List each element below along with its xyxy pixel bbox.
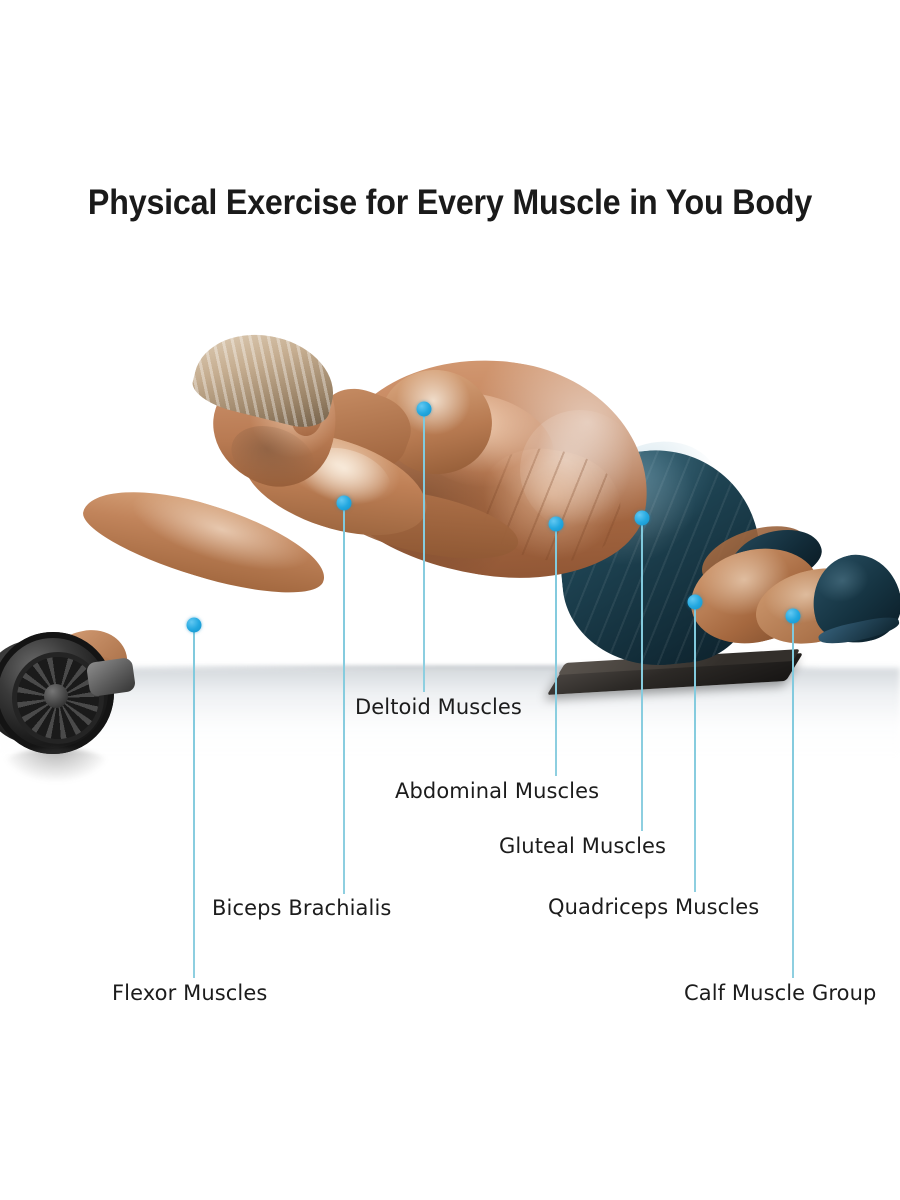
leader-line-quadriceps	[694, 609, 696, 892]
marker-dot-quadriceps[interactable]	[688, 595, 703, 610]
muscle-diagram-poster: Physical Exercise for Every Muscle in Yo…	[0, 0, 900, 1200]
leader-line-flexor	[193, 632, 195, 978]
marker-dot-flexor[interactable]	[187, 618, 202, 633]
ab-wheel-hub	[44, 684, 68, 708]
ab-wheel-grip-handle	[86, 657, 136, 697]
label-abdominal: Abdominal Muscles	[395, 779, 599, 803]
page-title: Physical Exercise for Every Muscle in Yo…	[36, 183, 864, 223]
marker-dot-calf[interactable]	[786, 609, 801, 624]
hair	[188, 320, 344, 433]
marker-dot-biceps[interactable]	[337, 496, 352, 511]
leader-line-abdominal	[555, 531, 557, 776]
marker-dot-deltoid[interactable]	[417, 402, 432, 417]
label-biceps: Biceps Brachialis	[212, 896, 391, 920]
label-gluteal: Gluteal Muscles	[499, 834, 666, 858]
label-quadriceps: Quadriceps Muscles	[548, 895, 759, 919]
marker-dot-gluteal[interactable]	[635, 511, 650, 526]
label-calf: Calf Muscle Group	[684, 981, 876, 1005]
exercise-photo	[0, 300, 900, 760]
leader-line-calf	[792, 623, 794, 978]
leader-line-gluteal	[641, 525, 643, 831]
leader-line-deltoid	[423, 416, 425, 692]
label-deltoid: Deltoid Muscles	[355, 695, 522, 719]
marker-dot-abdominal[interactable]	[549, 517, 564, 532]
label-flexor: Flexor Muscles	[112, 981, 267, 1005]
leader-line-biceps	[343, 510, 345, 894]
ab-wheel-reflection	[2, 748, 110, 782]
